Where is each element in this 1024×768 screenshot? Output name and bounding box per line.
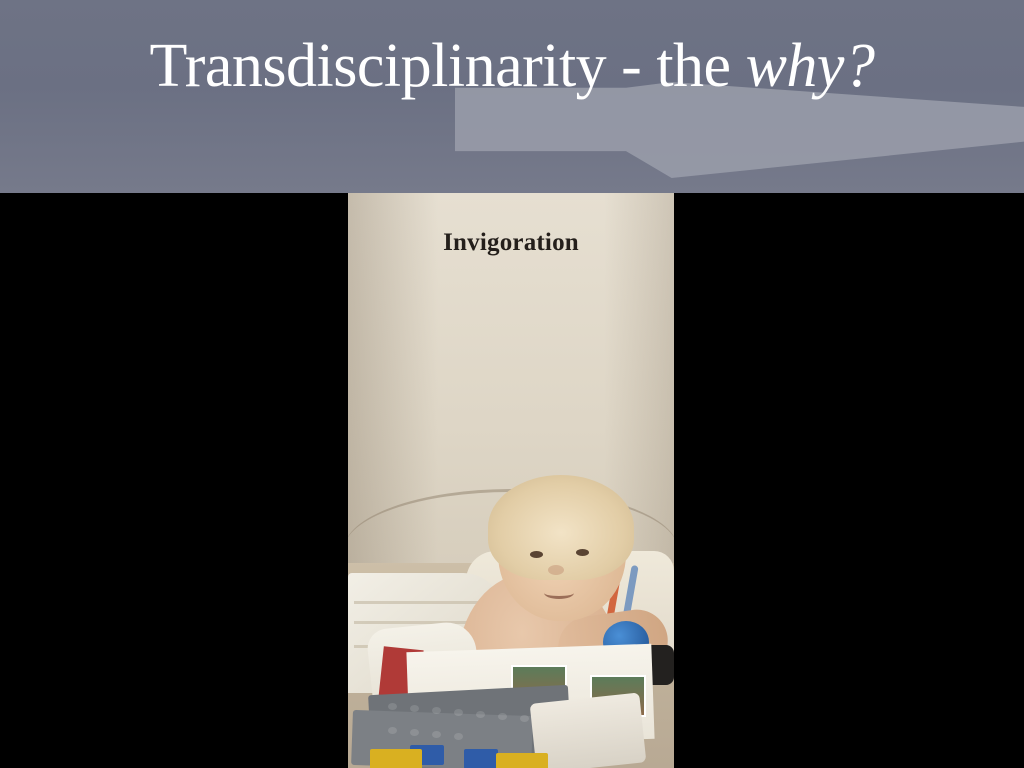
lego-stud (498, 713, 507, 720)
baby-eye-left (530, 551, 543, 558)
lego-stud (454, 733, 463, 740)
title-text-emphasis: why? (746, 32, 875, 100)
slide-header-band: Transdisciplinarity - the why? (0, 0, 1024, 193)
lego-stud (476, 711, 485, 718)
lego-stud (520, 715, 529, 722)
baby-hair (488, 475, 634, 580)
blue-lego-brick (464, 749, 498, 768)
slide-photo: Invigoration (348, 193, 674, 768)
title-text-plain: Transdisciplinarity - the (150, 32, 746, 100)
lego-stud (388, 727, 397, 734)
lego-stud (410, 729, 419, 736)
lego-stud (454, 709, 463, 716)
baby-nose (548, 565, 564, 575)
lego-stud (432, 707, 441, 714)
yellow-lego-brick (496, 753, 548, 768)
photo-caption: Invigoration (348, 229, 674, 257)
presentation-slide: Transdisciplinarity - the why? (0, 0, 1024, 768)
lego-stud (410, 705, 419, 712)
lego-stud (432, 731, 441, 738)
yellow-lego-brick (370, 749, 422, 768)
sheet-stripe (354, 601, 494, 604)
baby-eye-right (576, 549, 589, 556)
page-title: Transdisciplinarity - the why? (0, 28, 1024, 104)
baby-mouth (544, 587, 574, 599)
lego-stud (388, 703, 397, 710)
